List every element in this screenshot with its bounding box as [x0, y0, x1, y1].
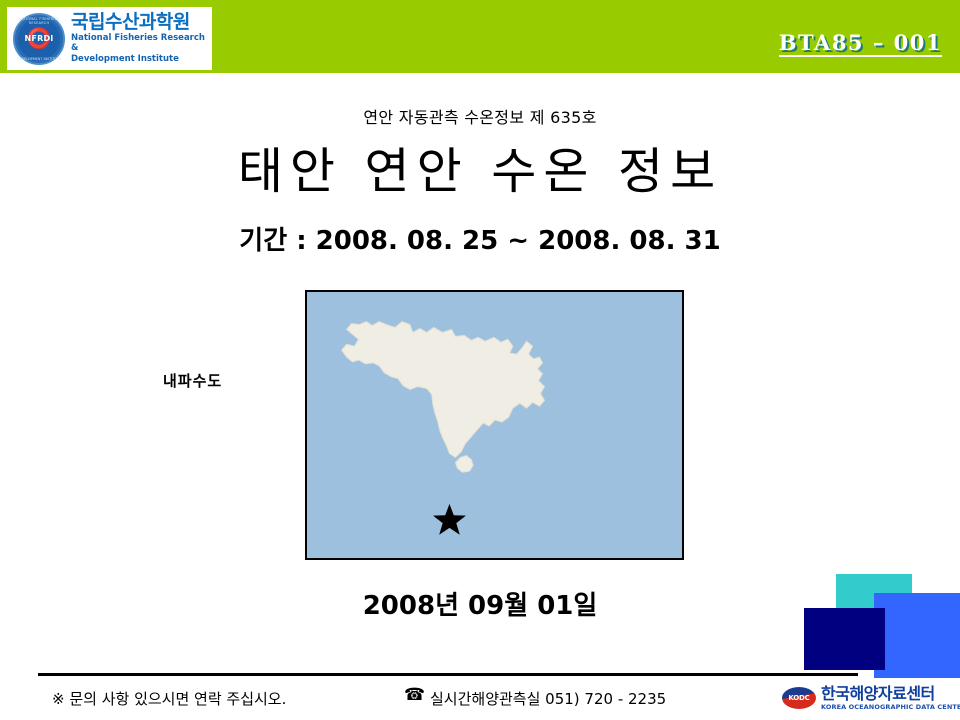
emblem-abbr-label: NFRDI [15, 34, 63, 43]
kodc-name-en: KOREA OCEANOGRAPHIC DATA CENTER [821, 703, 960, 711]
document-code-label: BTA85 – 001 [779, 32, 942, 57]
kodc-logo: KODC 한국해양자료센터 KOREA OCEANOGRAPHIC DATA C… [782, 686, 960, 711]
report-subtitle: 연안 자동관측 수온정보 제 635호 [0, 104, 960, 128]
footer-contact-label: 실시간해양관측실 051) 720 - 2235 [430, 688, 666, 709]
kodc-logo-text: 한국해양자료센터 KOREA OCEANOGRAPHIC DATA CENTER [821, 686, 960, 711]
decorative-square-blue [874, 593, 960, 678]
telephone-icon: ☎ [404, 687, 425, 704]
kodc-mark-icon: KODC [782, 687, 816, 709]
nfrdi-emblem-icon: NATIONAL FISHERIES RESEARCH ⭕ NFRDI DEVE… [13, 13, 65, 65]
institute-name-en: National Fisheries Research & Developmen… [71, 33, 209, 64]
page-title: 태안 연안 수온 정보 [0, 144, 960, 200]
report-period: 기간 : 2008. 08. 25 ~ 2008. 08. 31 [0, 220, 960, 257]
footer-note-label: ※ 문의 사항 있으시면 연락 주십시오. [52, 688, 286, 709]
kodc-abbr-label: KODC [788, 694, 809, 702]
header-bar: NATIONAL FISHERIES RESEARCH ⭕ NFRDI DEVE… [0, 0, 960, 73]
island-label-naepasudo: 내파수도 [163, 370, 222, 391]
kodc-name-ko: 한국해양자료센터 [821, 686, 960, 703]
decorative-square-navy [804, 608, 885, 670]
emblem-ring-bottom-text: DEVELOPMENT INSTITUTE [15, 57, 63, 61]
map-graphic [307, 292, 682, 558]
footer-divider [38, 673, 858, 676]
emblem-ring-top-text: NATIONAL FISHERIES RESEARCH [15, 17, 63, 25]
location-map [305, 290, 684, 560]
institute-logo: NATIONAL FISHERIES RESEARCH ⭕ NFRDI DEVE… [7, 7, 212, 70]
institute-name-ko: 국립수산과학원 [71, 13, 209, 33]
institute-logo-text: 국립수산과학원 National Fisheries Research & De… [71, 13, 209, 64]
